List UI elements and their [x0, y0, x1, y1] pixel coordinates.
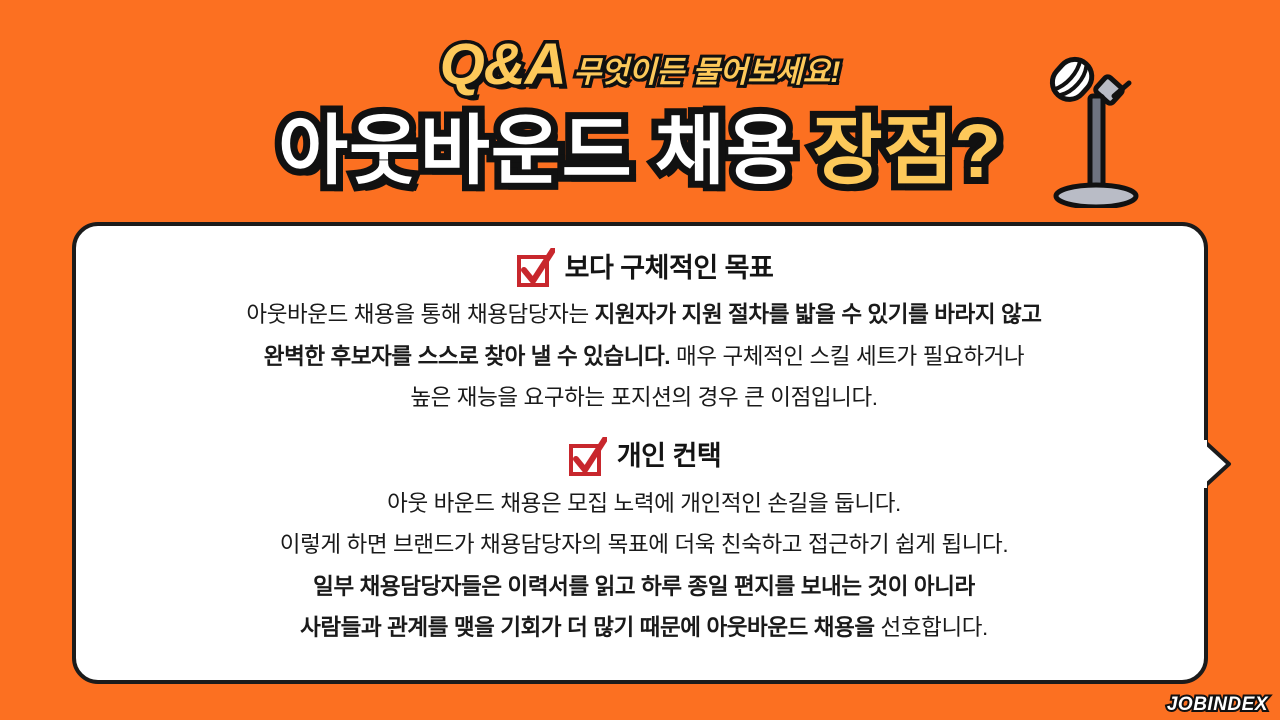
speech-bubble-tail — [1203, 440, 1243, 488]
section-1-line-1: 아웃바운드 채용을 통해 채용담당자는 지원자가 지원 절차를 밟을 수 있기를… — [112, 294, 1176, 336]
section-2-line-3: 일부 채용담당자들은 이력서를 읽고 하루 종일 편지를 보내는 것이 아니라 — [112, 566, 1176, 608]
qa-mark-text: Q&A — [440, 36, 566, 94]
content-card-body: 보다 구체적인 목표 아웃바운드 채용을 통해 채용담당자는 지원자가 지원 절… — [76, 226, 1212, 688]
slide-canvas: Q&A 무엇이든 물어보세요! 아웃바운드 채용 장점? — [0, 0, 1280, 720]
section-heading-1: 보다 구체적인 목표 — [112, 248, 1176, 288]
section-title-1: 보다 구체적인 목표 — [565, 255, 774, 282]
content-card: 보다 구체적인 목표 아웃바운드 채용을 통해 채용담당자는 지원자가 지원 절… — [72, 222, 1208, 684]
text-run: 사람들과 관계를 맺을 기회가 더 많기 때문에 아웃바운드 채용을 — [300, 615, 880, 640]
section-2-line-1: 아웃 바운드 채용은 모집 노력에 개인적인 손길을 둡니다. — [112, 483, 1176, 525]
red-checkbox-checked-icon — [515, 248, 555, 288]
text-run: 높은 재능을 요구하는 포지션의 경우 큰 이점입니다. — [410, 385, 877, 410]
text-run: 이렇게 하면 브랜드가 채용담당자의 목표에 더욱 친숙하고 접근하기 쉽게 됩… — [280, 532, 1008, 557]
section-heading-2: 개인 컨택 — [112, 437, 1176, 477]
section-2-line-4: 사람들과 관계를 맺을 기회가 더 많기 때문에 아웃바운드 채용을 선호합니다… — [112, 607, 1176, 649]
page-title-primary: 아웃바운드 채용 — [278, 114, 797, 190]
section-1-line-2: 완벽한 후보자를 스스로 찾아 낼 수 있습니다. 매우 구체적인 스킬 세트가… — [112, 336, 1176, 378]
text-run: 완벽한 후보자를 스스로 찾아 낼 수 있습니다. — [264, 344, 670, 369]
qa-subtitle-text: 무엇이든 물어보세요! — [574, 58, 841, 88]
section-2-line-2: 이렇게 하면 브랜드가 채용담당자의 목표에 더욱 친숙하고 접근하기 쉽게 됩… — [112, 524, 1176, 566]
text-run: 매우 구체적인 스킬 세트가 필요하거나 — [670, 344, 1024, 369]
text-run: 아웃 바운드 채용은 모집 노력에 개인적인 손길을 둡니다. — [387, 491, 901, 516]
brand-logo: JOBINDEX — [1167, 695, 1268, 714]
section-1-line-3: 높은 재능을 요구하는 포지션의 경우 큰 이점입니다. — [112, 377, 1176, 419]
text-run: 지원자가 지원 절차를 밟을 수 있기를 바라지 않고 — [595, 302, 1042, 327]
text-run: 선호합니다. — [881, 615, 988, 640]
section-title-2: 개인 컨택 — [617, 443, 721, 470]
microphone-stand-icon — [1028, 52, 1144, 208]
red-checkbox-checked-icon — [567, 437, 607, 477]
text-run: 일부 채용담당자들은 이력서를 읽고 하루 종일 편지를 보내는 것이 아니라 — [313, 574, 975, 599]
text-run: 아웃바운드 채용을 통해 채용담당자는 — [246, 302, 594, 327]
page-title-highlight: 장점? — [813, 114, 1002, 190]
